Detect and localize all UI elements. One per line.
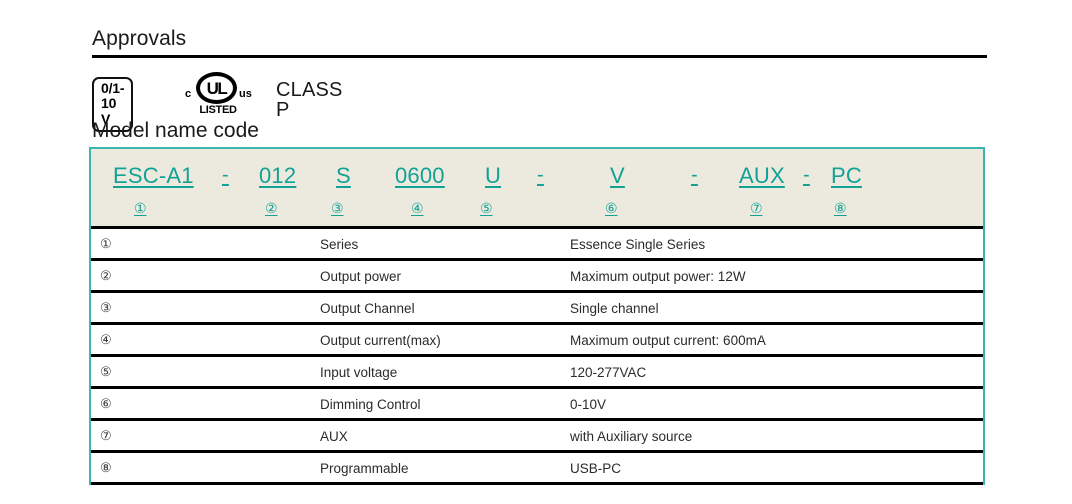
row-parameter-label: Output current(max)	[320, 334, 441, 348]
code-token: 012	[259, 165, 296, 187]
row-parameter-value: Essence Single Series	[570, 238, 705, 252]
table-row: ⑤Input voltage120-277VAC	[91, 357, 983, 389]
code-token: V	[610, 165, 625, 187]
row-parameter-label: Series	[320, 238, 358, 252]
code-token-index: ⑧	[834, 201, 847, 215]
model-name-code-table: ESC-A1①-012②S③0600④U⑤-V⑥-AUX⑦-PC⑧ ①Serie…	[89, 147, 985, 485]
code-token: PC	[831, 165, 862, 187]
row-parameter-label: Output power	[320, 270, 401, 284]
table-row: ⑧ProgrammableUSB-PC	[91, 453, 983, 485]
code-token-index: ③	[331, 201, 344, 215]
code-token-index: ⑦	[750, 201, 763, 215]
row-index-label: ①	[100, 237, 112, 250]
approvals-heading: Approvals	[92, 28, 186, 49]
row-parameter-value: Single channel	[570, 302, 659, 316]
table-row: ③Output ChannelSingle channel	[91, 293, 983, 325]
table-row: ④Output current(max)Maximum output curre…	[91, 325, 983, 357]
model-name-code-heading: Model name code	[92, 120, 259, 141]
code-token: ESC-A1	[113, 165, 194, 187]
row-parameter-label: AUX	[320, 430, 348, 444]
row-parameter-label: Dimming Control	[320, 398, 421, 412]
table-row: ①SeriesEssence Single Series	[91, 229, 983, 261]
ul-us-suffix-label: us	[239, 89, 252, 100]
code-token-index: ⑤	[480, 201, 493, 215]
row-parameter-value: Maximum output current: 600mA	[570, 334, 766, 348]
row-index-label: ⑧	[100, 461, 112, 474]
code-token: -	[803, 165, 810, 185]
ul-listed-label: LISTED	[188, 105, 248, 116]
row-index-label: ④	[100, 333, 112, 346]
ul-listed-icon: c UL us LISTED	[185, 72, 257, 118]
table-row: ⑦AUXwith Auxiliary source	[91, 421, 983, 453]
model-code-rows: ①SeriesEssence Single Series②Output powe…	[91, 229, 983, 485]
code-token-index: ①	[134, 201, 147, 215]
row-parameter-value: USB-PC	[570, 462, 621, 476]
row-index-label: ③	[100, 301, 112, 314]
code-token: AUX	[739, 165, 785, 187]
code-token-index: ⑥	[605, 201, 618, 215]
model-code-header-band: ESC-A1①-012②S③0600④U⑤-V⑥-AUX⑦-PC⑧	[91, 149, 983, 229]
row-parameter-value: with Auxiliary source	[570, 430, 692, 444]
code-token-index: ④	[411, 201, 424, 215]
row-parameter-label: Programmable	[320, 462, 409, 476]
row-index-label: ⑥	[100, 397, 112, 410]
code-token: 0600	[395, 165, 445, 187]
class-p-label: CLASS P	[276, 80, 343, 120]
row-parameter-label: Input voltage	[320, 366, 397, 380]
code-token: -	[537, 165, 544, 185]
row-index-label: ⑤	[100, 365, 112, 378]
code-token-index: ②	[265, 201, 278, 215]
row-parameter-value: 0-10V	[570, 398, 606, 412]
code-token: -	[222, 165, 229, 185]
row-index-label: ⑦	[100, 429, 112, 442]
row-parameter-value: Maximum output power: 12W	[570, 270, 746, 284]
approvals-divider	[92, 55, 987, 58]
row-parameter-value: 120-277VAC	[570, 366, 646, 380]
ul-c-prefix-label: c	[185, 89, 191, 100]
table-row: ②Output powerMaximum output power: 12W	[91, 261, 983, 293]
code-token: S	[336, 165, 351, 187]
code-token: -	[691, 165, 698, 185]
datasheet-page: Approvals 0/1-10 V c UL us LISTED CLASS …	[0, 0, 1072, 504]
row-index-label: ②	[100, 269, 112, 282]
code-token: U	[485, 165, 501, 187]
row-parameter-label: Output Channel	[320, 302, 415, 316]
table-row: ⑥Dimming Control0-10V	[91, 389, 983, 421]
ul-monogram-label: UL	[196, 72, 237, 104]
